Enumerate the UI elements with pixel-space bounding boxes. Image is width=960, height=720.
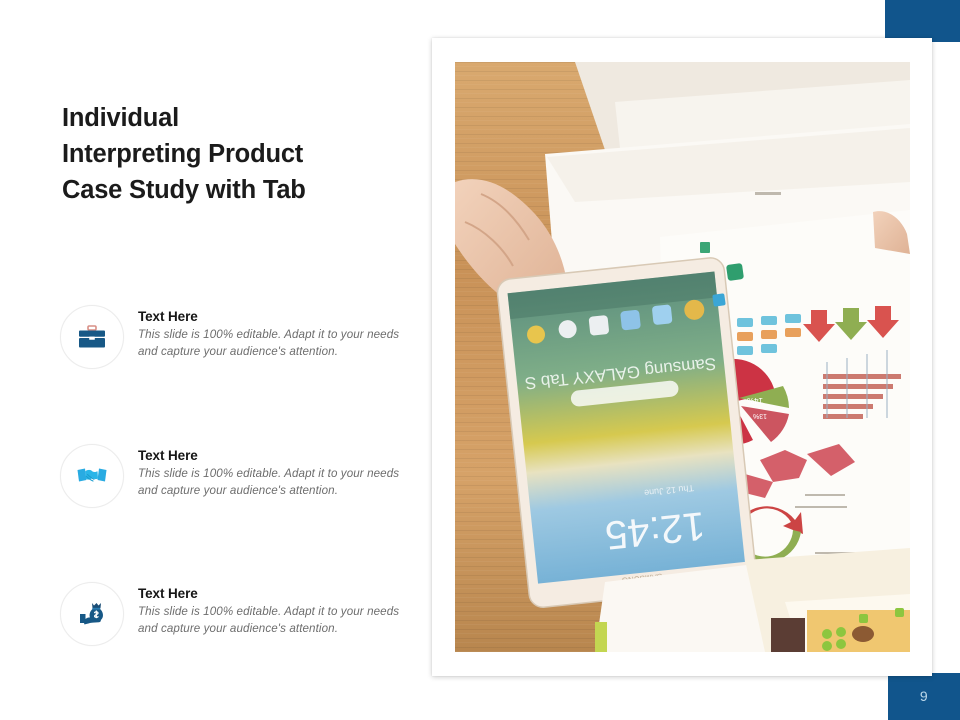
money-bag-hand-icon xyxy=(75,597,109,631)
feature-item-1: Text Here This slide is 100% editable. A… xyxy=(60,305,415,375)
case-study-photo: 66% 14% 13% xyxy=(455,62,910,652)
icon-badge-1 xyxy=(60,305,124,369)
feature-body-1: This slide is 100% editable. Adapt it to… xyxy=(138,327,410,361)
page-number: 9 xyxy=(888,673,960,720)
feature-item-2: Text Here This slide is 100% editable. A… xyxy=(60,444,415,514)
feature-body-3: This slide is 100% editable. Adapt it to… xyxy=(138,604,410,638)
briefcase-icon xyxy=(75,320,109,354)
feature-heading-2: Text Here xyxy=(138,448,410,463)
top-right-accent-block xyxy=(885,0,960,42)
feature-text-3: Text Here This slide is 100% editable. A… xyxy=(138,582,410,638)
feature-item-3: Text Here This slide is 100% editable. A… xyxy=(60,582,415,652)
photo-frame: 66% 14% 13% xyxy=(432,38,932,676)
feature-heading-1: Text Here xyxy=(138,309,410,324)
svg-text:14%: 14% xyxy=(747,396,763,405)
slide-canvas: 9 Individual Interpreting Product Case S… xyxy=(0,0,960,720)
handshake-icon xyxy=(75,459,109,493)
title-line-2: Interpreting Product xyxy=(62,136,422,172)
title-line-3: Case Study with Tab xyxy=(62,172,422,208)
svg-text:13%: 13% xyxy=(753,412,767,419)
icon-badge-3 xyxy=(60,582,124,646)
feature-body-2: This slide is 100% editable. Adapt it to… xyxy=(138,466,410,500)
feature-heading-3: Text Here xyxy=(138,586,410,601)
icon-badge-2 xyxy=(60,444,124,508)
title-line-1: Individual xyxy=(62,100,422,136)
feature-text-1: Text Here This slide is 100% editable. A… xyxy=(138,305,410,361)
page-title: Individual Interpreting Product Case Stu… xyxy=(62,100,422,209)
feature-text-2: Text Here This slide is 100% editable. A… xyxy=(138,444,410,500)
